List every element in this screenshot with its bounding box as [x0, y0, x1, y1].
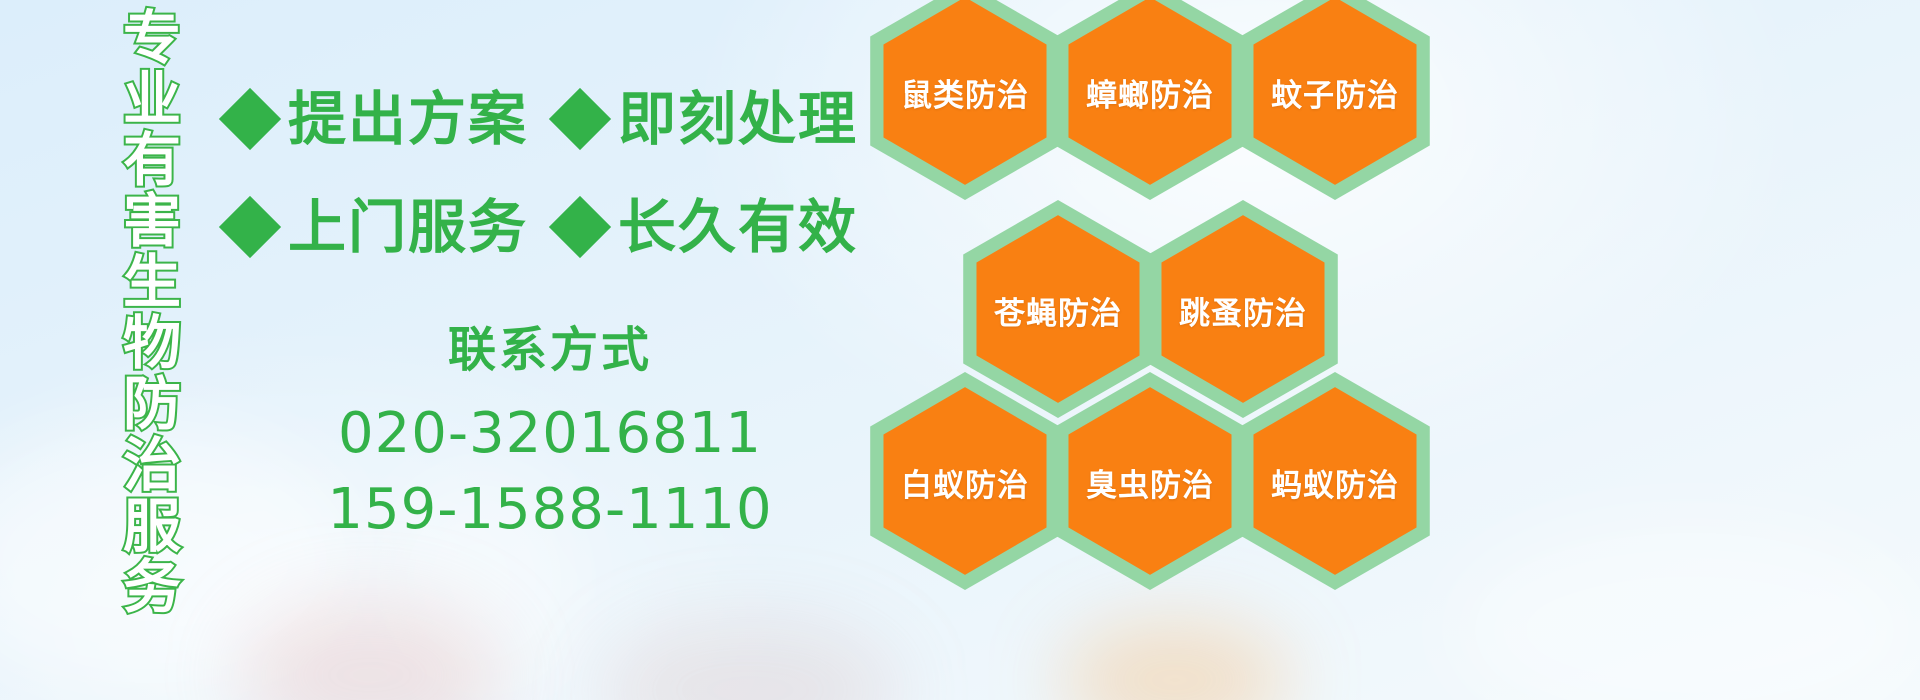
- service-hex-3-3[interactable]: 蚂蚁防治: [1240, 372, 1430, 590]
- background-blur-shape: [600, 620, 900, 700]
- contact-title: 联系方式: [250, 318, 850, 382]
- hexagon-icon: [870, 0, 1060, 200]
- diamond-icon: [549, 88, 611, 150]
- hexagon-icon: [1240, 0, 1430, 200]
- headline-char: 业: [123, 69, 181, 130]
- headline-char: 有: [123, 130, 181, 191]
- phone-landline[interactable]: 020-32016811: [250, 396, 850, 472]
- diamond-icon: [219, 196, 281, 258]
- hexagon-icon: [1055, 0, 1245, 200]
- phone-mobile[interactable]: 159-1588-1110: [250, 472, 850, 548]
- headline-char: 专: [123, 8, 181, 69]
- feature-item: 上门服务: [228, 196, 528, 258]
- headline-char: 害: [123, 191, 181, 252]
- promo-banner: 专 业 有 害 生 物 防 治 服 务 提出方案 即刻处理 上门服务 长久有效: [0, 0, 1920, 700]
- service-hex-3-1[interactable]: 蚊子防治: [1240, 0, 1430, 200]
- headline-char: 物: [123, 313, 181, 374]
- background-blur-shape: [1450, 520, 1920, 700]
- feature-item: 提出方案: [228, 88, 528, 150]
- feature-row-1: 提出方案 即刻处理: [228, 88, 858, 150]
- contact-block: 联系方式 020-32016811 159-1588-1110: [250, 318, 850, 548]
- diamond-icon: [219, 88, 281, 150]
- background-blur-shape: [240, 600, 500, 700]
- feature-row-2: 上门服务 长久有效: [228, 196, 858, 258]
- headline-char: 防: [123, 374, 181, 435]
- feature-item: 长久有效: [558, 196, 858, 258]
- headline-char: 生: [123, 252, 181, 313]
- headline-char: 服: [123, 496, 181, 557]
- hexagon-icon: [870, 372, 1060, 590]
- service-hex-2-1[interactable]: 蟑螂防治: [1055, 0, 1245, 200]
- headline-char: 务: [123, 557, 181, 618]
- feature-label: 上门服务: [288, 196, 528, 258]
- feature-label: 提出方案: [288, 88, 528, 150]
- hexagon-icon: [1055, 372, 1245, 590]
- service-hex-1-3[interactable]: 白蚁防治: [870, 372, 1060, 590]
- service-hex-1-1[interactable]: 鼠类防治: [870, 0, 1060, 200]
- hexagon-icon: [1240, 372, 1430, 590]
- service-hex-2-3[interactable]: 臭虫防治: [1055, 372, 1245, 590]
- background-blur-shape: [1060, 620, 1290, 700]
- feature-item: 即刻处理: [558, 88, 858, 150]
- feature-label: 长久有效: [618, 196, 858, 258]
- vertical-headline: 专 业 有 害 生 物 防 治 服 务: [104, 8, 200, 568]
- diamond-icon: [549, 196, 611, 258]
- headline-char: 治: [123, 435, 181, 496]
- feature-label: 即刻处理: [618, 88, 858, 150]
